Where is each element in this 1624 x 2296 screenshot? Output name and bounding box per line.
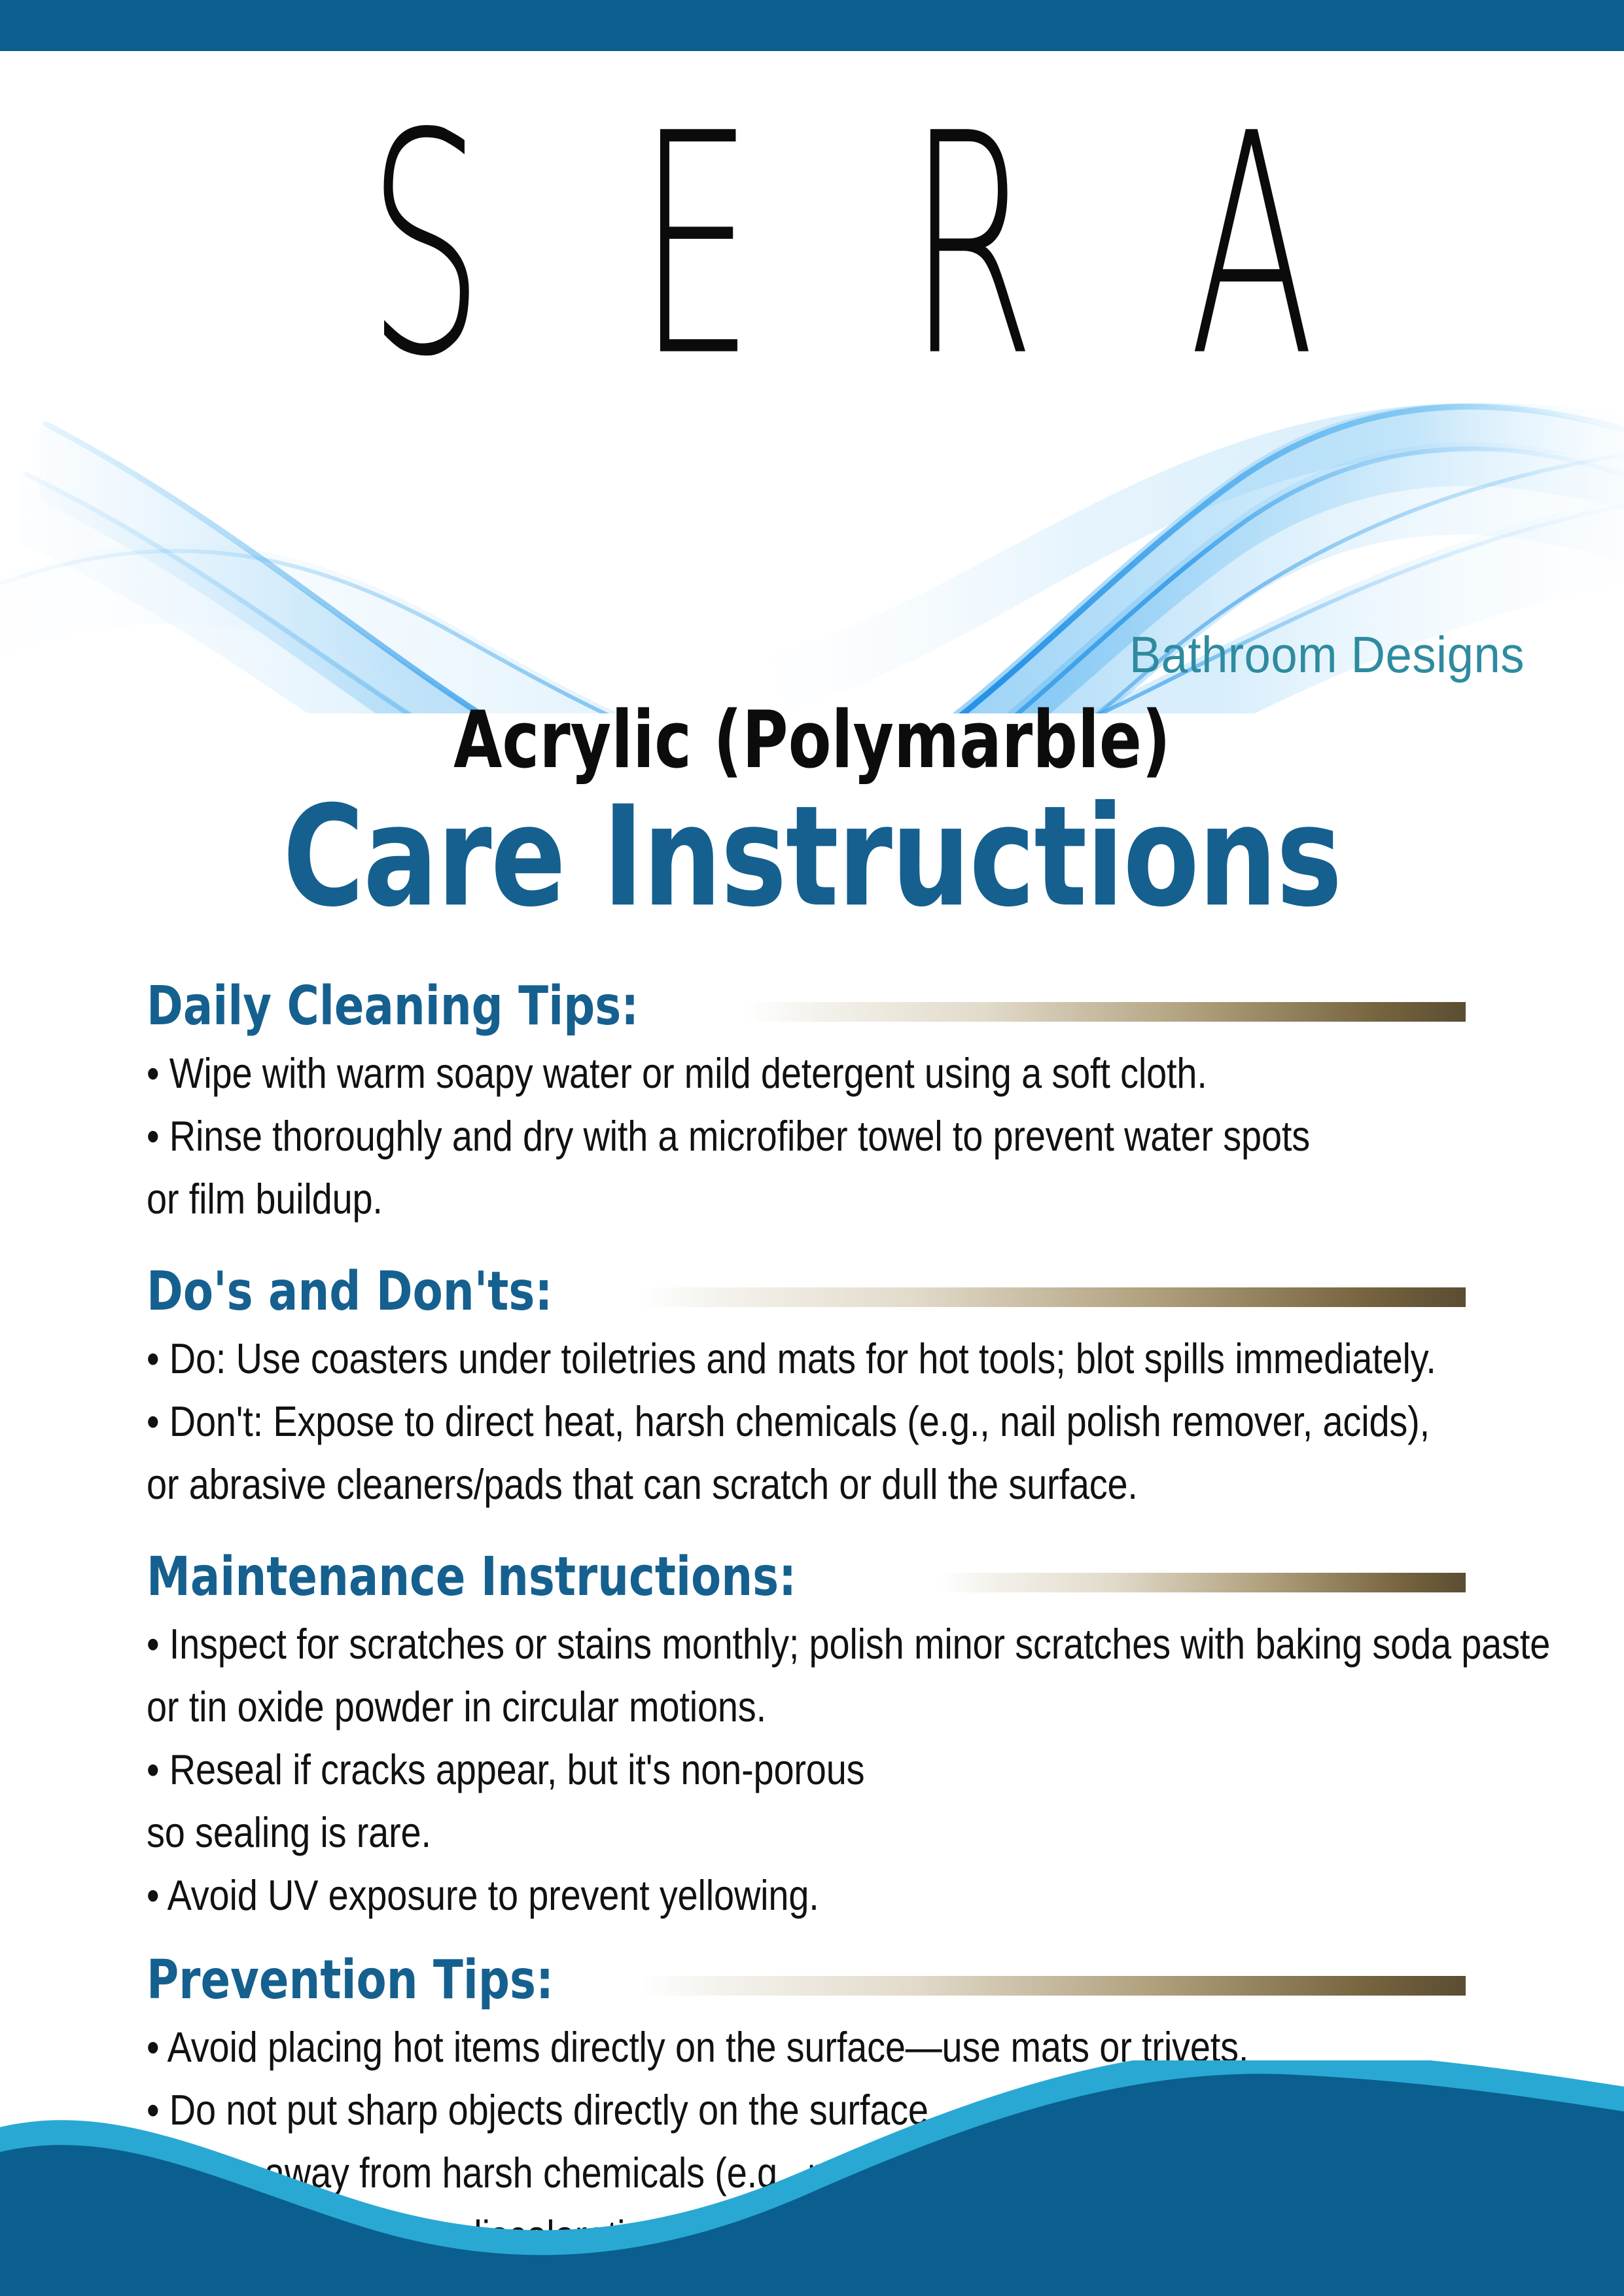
section-heading-text: Daily Cleaning Tips: xyxy=(147,979,639,1034)
section-header: Daily Cleaning Tips: xyxy=(147,975,1466,1038)
section-divider-rule xyxy=(642,1976,1466,1996)
document-subtitle: Acrylic (Polymarble) xyxy=(162,699,1462,783)
page-title: Care Instructions xyxy=(162,785,1462,928)
section-body: • Inspect for scratches or stains monthl… xyxy=(147,1613,1494,1927)
section-heading-text: Maintenance Instructions: xyxy=(147,1550,796,1605)
section-header: Prevention Tips: xyxy=(147,1949,1466,2012)
section-maintenance-instructions: Maintenance Instructions: • Inspect for … xyxy=(147,1546,1494,1927)
section-dos-and-donts: Do's and Don'ts: • Do: Use coasters unde… xyxy=(147,1261,1494,1516)
section-divider-rule xyxy=(641,1287,1466,1307)
section-body: • Wipe with warm soapy water or mild det… xyxy=(147,1042,1494,1230)
bullet-line: • Reseal if cracks appear, but it's non-… xyxy=(147,1738,1306,1801)
section-divider-rule xyxy=(938,1573,1466,1592)
spacer xyxy=(147,1230,1494,1261)
bullet-line: or abrasive cleaners/pads that can scrat… xyxy=(147,1453,1306,1516)
section-heading-text: Do's and Don'ts: xyxy=(147,1265,552,1319)
bullet-line: • Inspect for scratches or stains monthl… xyxy=(147,1613,1306,1676)
section-heading-text: Prevention Tips: xyxy=(147,1953,554,2008)
bullet-line: • Rinse thoroughly and dry with a microf… xyxy=(147,1105,1306,1168)
footer-wave-graphic xyxy=(0,2060,1624,2296)
section-daily-cleaning-tips: Daily Cleaning Tips: • Wipe with warm so… xyxy=(147,975,1494,1230)
brand-tagline: Bathroom Designs xyxy=(107,625,1525,684)
section-body: • Do: Use coasters under toiletries and … xyxy=(147,1327,1494,1516)
spacer xyxy=(147,1927,1494,1949)
section-divider-rule xyxy=(745,1002,1466,1022)
spacer xyxy=(147,1516,1494,1546)
section-header: Do's and Don'ts: xyxy=(147,1261,1466,1323)
bullet-line: so sealing is rare. xyxy=(147,1801,1306,1864)
bullet-line: or tin oxide powder in circular motions. xyxy=(147,1676,1306,1738)
top-accent-bar xyxy=(0,0,1624,51)
bullet-line: • Do: Use coasters under toiletries and … xyxy=(147,1327,1306,1390)
bullet-line: • Avoid UV exposure to prevent yellowing… xyxy=(147,1864,1306,1927)
section-header: Maintenance Instructions: xyxy=(147,1546,1466,1609)
bullet-line: • Don't: Expose to direct heat, harsh ch… xyxy=(147,1390,1306,1453)
bullet-line: • Wipe with warm soapy water or mild det… xyxy=(147,1042,1306,1105)
bullet-line: or film buildup. xyxy=(147,1168,1306,1230)
